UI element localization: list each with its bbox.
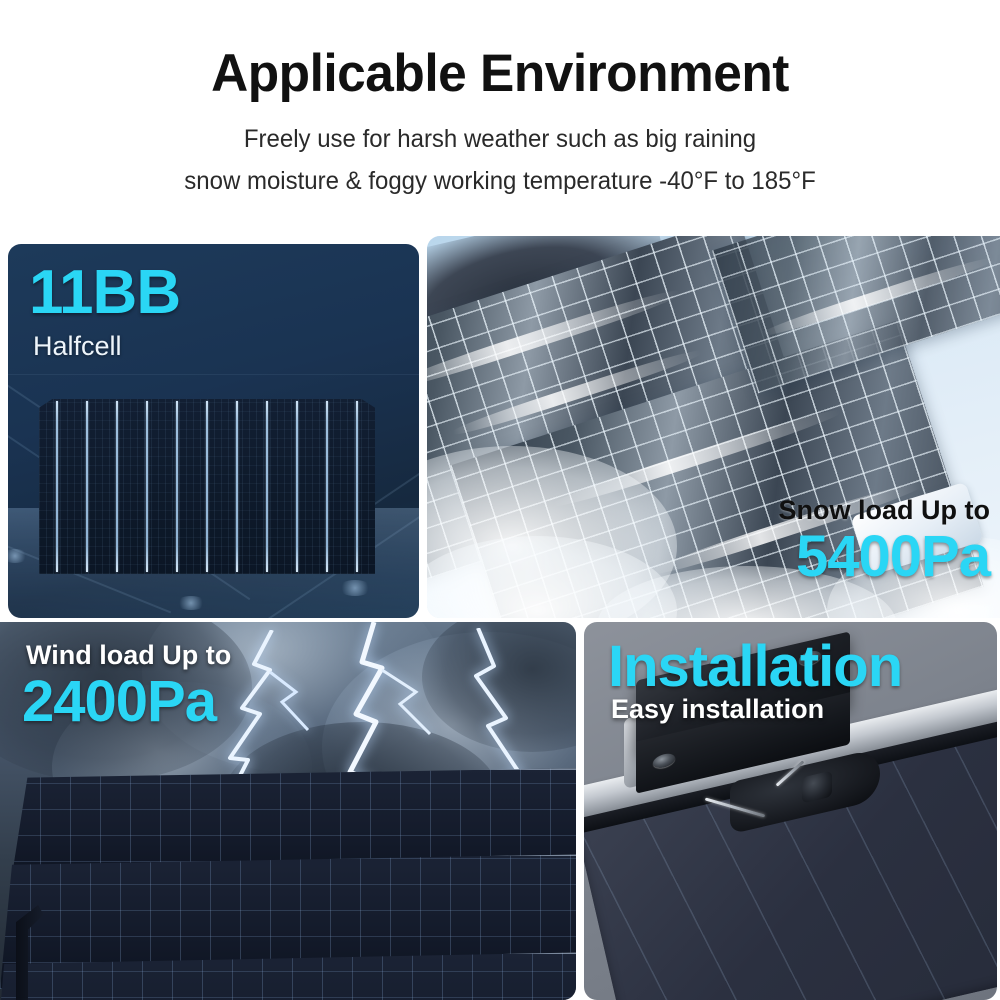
snow-load-label: Snow load Up to: [779, 497, 990, 524]
panel-installation[interactable]: Installation Easy installation: [584, 622, 997, 1000]
installation-subhead: Easy installation: [611, 696, 824, 723]
panel-snow-load[interactable]: Snow load Up to 5400Pa: [427, 236, 1000, 618]
wind-load-value: 2400Pa: [22, 673, 216, 731]
wind-load-label: Wind load Up to: [26, 642, 231, 669]
header: Applicable Environment Freely use for ha…: [0, 0, 1000, 194]
header-subtitle-line-1: Freely use for harsh weather such as big…: [20, 127, 980, 152]
halfcell-subhead: Halfcell: [33, 333, 122, 360]
circuit-trace-line: [8, 374, 419, 375]
solar-cell-graphic: [39, 399, 375, 574]
bracket-bolt-hole: [653, 752, 675, 770]
panel-wind-load[interactable]: Wind load Up to 2400Pa: [0, 622, 576, 1000]
page-title: Applicable Environment: [15, 46, 985, 102]
halfcell-headline: 11BB: [29, 262, 180, 324]
installation-headline: Installation: [608, 638, 902, 696]
header-subtitle-line-2: snow moisture & foggy working temperatur…: [20, 169, 980, 194]
snow-load-value: 5400Pa: [796, 528, 990, 586]
